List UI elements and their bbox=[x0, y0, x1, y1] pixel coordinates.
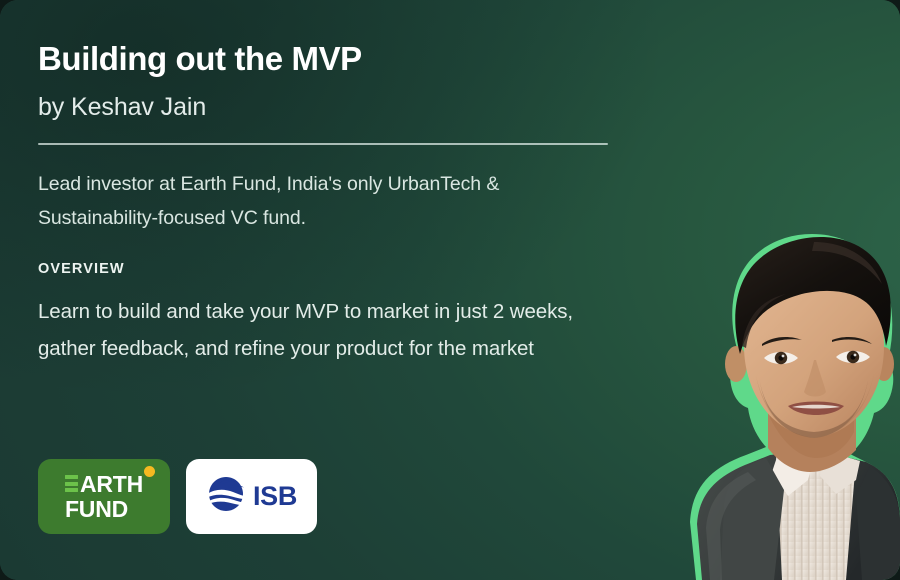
overview-body: Learn to build and take your MVP to mark… bbox=[38, 294, 578, 367]
page-title: Building out the MVP bbox=[38, 40, 638, 79]
speaker-byline: by Keshav Jain bbox=[38, 93, 638, 122]
earth-fund-arth-text: ARTH bbox=[80, 473, 143, 495]
divider bbox=[38, 143, 608, 145]
card-content: Building out the MVP by Keshav Jain Lead… bbox=[38, 40, 638, 367]
earth-fund-logo-badge[interactable]: ARTH FUND bbox=[38, 459, 170, 534]
isb-logo-badge[interactable]: ISB bbox=[186, 459, 317, 534]
isb-text: ISB bbox=[253, 481, 297, 512]
earth-fund-fund-text: FUND bbox=[65, 498, 143, 520]
isb-lockup: ISB bbox=[206, 476, 297, 517]
speaker-bio: Lead investor at Earth Fund, India's onl… bbox=[38, 167, 558, 235]
isb-wave-icon bbox=[206, 476, 246, 517]
speaker-session-card: Building out the MVP by Keshav Jain Lead… bbox=[0, 0, 900, 580]
earth-fund-bars-icon bbox=[65, 475, 78, 493]
ear-left bbox=[725, 346, 747, 382]
earth-fund-line-1: ARTH bbox=[65, 473, 143, 495]
suit-lapel-right bbox=[856, 466, 900, 580]
earth-fund-dot-icon bbox=[144, 466, 155, 477]
partner-logos: ARTH FUND ISB bbox=[38, 459, 317, 534]
overview-label: OVERVIEW bbox=[38, 261, 638, 277]
earth-fund-lockup: ARTH FUND bbox=[65, 473, 143, 520]
